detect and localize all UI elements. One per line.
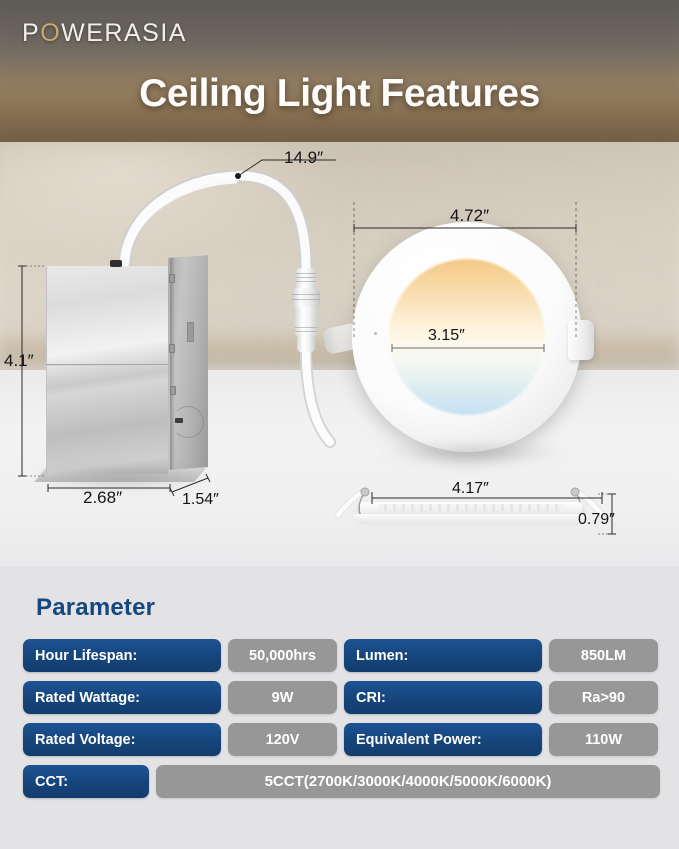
page-title: Ceiling Light Features: [0, 72, 679, 116]
dimension-box-height: 4.1″: [4, 351, 34, 371]
profile-trim-edge: [354, 514, 588, 524]
table-row: Hour Lifespan: 50,000hrs Lumen: 850LM: [23, 639, 660, 672]
table-row: Rated Voltage: 120V Equivalent Power: 11…: [23, 723, 660, 756]
dimension-box-depth: 1.54″: [182, 491, 219, 509]
junction-box: [46, 258, 208, 476]
downlight-lens: [389, 259, 545, 415]
param-label-rated-voltage: Rated Voltage:: [23, 723, 221, 756]
param-label-rated-wattage: Rated Wattage:: [23, 681, 221, 714]
junction-box-shadow: [30, 464, 210, 490]
param-label-equivalent-power: Equivalent Power:: [344, 723, 542, 756]
infographic-page: POWERASIA Ceiling Light Features: [0, 0, 679, 849]
dimension-cable-length: 14.9″: [284, 148, 323, 168]
dimension-thickness: 0.79″: [578, 511, 615, 529]
table-row-cct: CCT: 5CCT(2700K/3000K/4000K/5000K/6000K): [23, 765, 660, 798]
param-value-rated-wattage: 9W: [228, 681, 337, 714]
mounting-clip-right: [568, 320, 594, 360]
junction-box-knockout-tab: [175, 418, 183, 423]
param-value-cct: 5CCT(2700K/3000K/4000K/5000K/6000K): [156, 765, 660, 798]
param-value-equivalent-power: 110W: [549, 723, 658, 756]
junction-box-tab-lower: [170, 386, 176, 395]
dimension-cutout-width: 4.17″: [452, 480, 489, 498]
junction-box-front-panel: [46, 266, 168, 474]
dimension-outer-diameter: 4.72″: [450, 206, 489, 226]
junction-box-tab-middle: [169, 344, 175, 353]
downlight-edge-marker: [374, 332, 377, 335]
cable-connector: [290, 268, 324, 354]
param-value-hour-lifespan: 50,000hrs: [228, 639, 337, 672]
junction-box-seam: [46, 364, 168, 366]
param-value-rated-voltage: 120V: [228, 723, 337, 756]
param-value-cri: Ra>90: [549, 681, 658, 714]
brand-logo: POWERASIA: [22, 19, 187, 48]
table-row: Rated Wattage: 9W CRI: Ra>90: [23, 681, 660, 714]
dimension-box-width: 2.68″: [83, 488, 122, 508]
junction-box-tab-top: [169, 274, 175, 283]
param-value-lumen: 850LM: [549, 639, 658, 672]
param-label-cri: CRI:: [344, 681, 542, 714]
product-stage: 14.9″ 4.1″ 2.68″ 1.54″ 4.72″ 3.15″ 4.17″…: [0, 142, 679, 566]
parameter-heading: Parameter: [36, 594, 155, 622]
parameter-panel: Parameter Hour Lifespan: 50,000hrs Lumen…: [0, 566, 679, 849]
connector-collar: [292, 288, 320, 308]
junction-box-cable-entry: [110, 260, 122, 267]
connector-segment-top: [296, 268, 316, 290]
param-label-cct: CCT:: [23, 765, 149, 798]
parameter-table: Hour Lifespan: 50,000hrs Lumen: 850LM Ra…: [23, 639, 660, 807]
profile-led-strip: [378, 504, 564, 511]
downlight-shadow: [380, 442, 570, 464]
param-label-lumen: Lumen:: [344, 639, 542, 672]
connector-segment-lower: [295, 307, 317, 337]
logo-text-gold-o: O: [40, 19, 61, 48]
dimension-lens-diameter: 3.15″: [428, 327, 465, 345]
header-banner: POWERASIA Ceiling Light Features: [0, 0, 679, 142]
logo-text-part2: WERASIA: [61, 19, 187, 48]
downlight-fixture-front: [352, 222, 582, 452]
param-label-hour-lifespan: Hour Lifespan:: [23, 639, 221, 672]
logo-text-part1: P: [22, 19, 40, 48]
connector-tail: [297, 334, 315, 352]
junction-box-vent-slot: [187, 322, 194, 342]
